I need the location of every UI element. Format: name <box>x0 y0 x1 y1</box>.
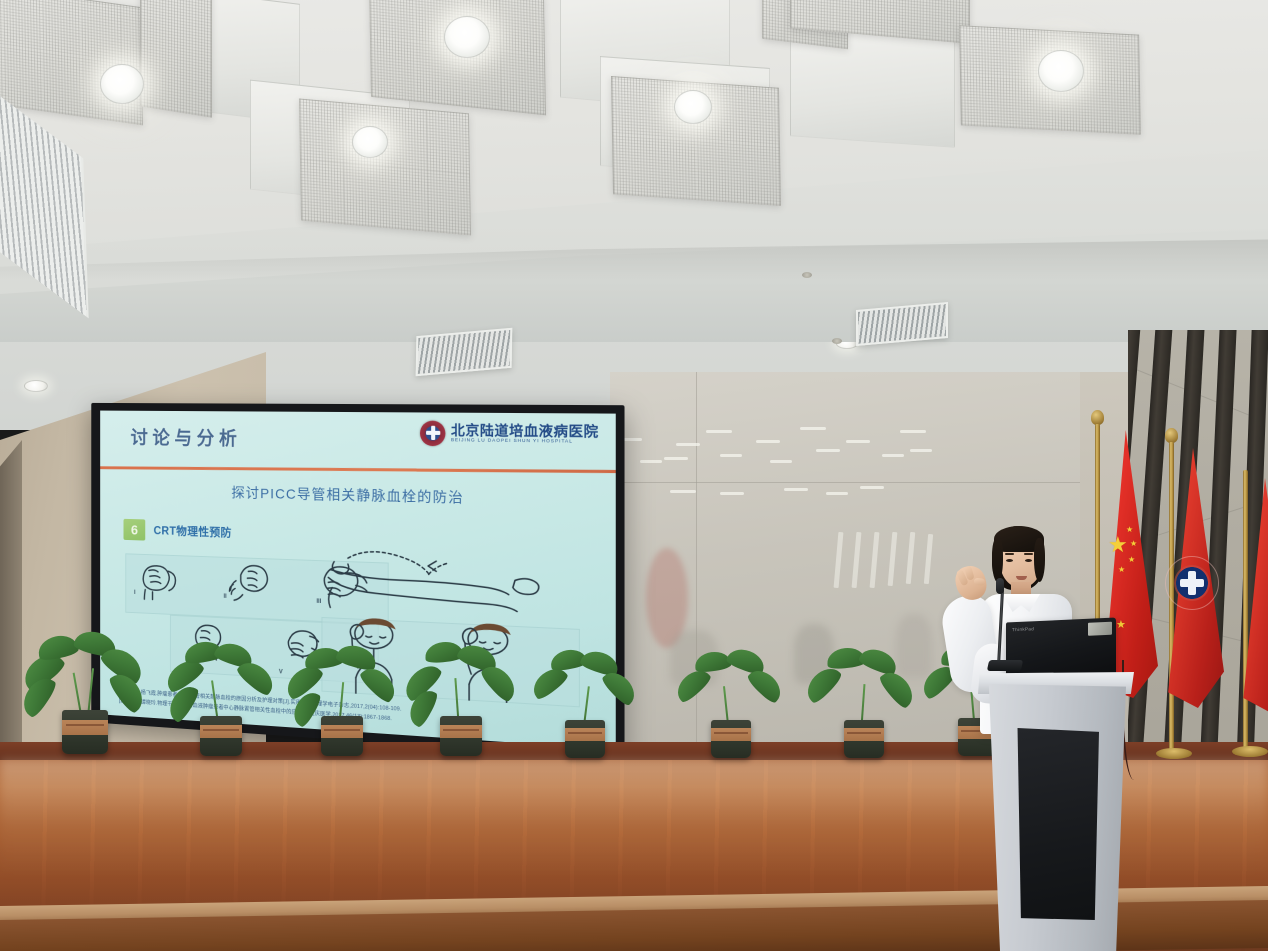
ceiling-air-vent-1 <box>416 328 513 376</box>
light-reflection-5 <box>706 430 732 433</box>
flagpole-base <box>1232 746 1268 757</box>
hospital-name-en: BEIJING LU DAOPEI SHUN YI HOSPITAL <box>451 438 599 445</box>
plant-leaf <box>694 650 732 674</box>
light-reflection-17 <box>784 488 808 491</box>
presenter-laptop[interactable]: ThinkPad <box>1006 618 1116 679</box>
sprinkler-head-2 <box>832 338 842 344</box>
downlight-3 <box>1038 50 1084 92</box>
laptop-sticker <box>1088 622 1112 636</box>
plant-pot <box>711 720 751 758</box>
pot-label-band <box>200 725 242 739</box>
flag-star-extra: ★ <box>1116 620 1126 631</box>
microphone-head <box>996 578 1004 594</box>
presenter-brow-left <box>1005 553 1014 555</box>
figure-label-1: I <box>134 590 136 596</box>
figure-label-3: III <box>316 599 321 605</box>
plant-pot <box>321 716 363 756</box>
plant-pot <box>440 716 482 756</box>
slat-reflection-1 <box>834 532 844 588</box>
hand-exercise-icon-1 <box>134 557 187 603</box>
downlight-2 <box>444 16 490 58</box>
figure-label-5: V <box>279 669 283 675</box>
plant-pot <box>844 720 884 758</box>
light-reflection-7 <box>756 440 780 443</box>
downlight-4 <box>352 126 388 158</box>
plant-pot <box>200 716 242 756</box>
light-reflection-6 <box>720 454 742 457</box>
slide-subtitle: 探讨PICC导管相关静脉血栓的防治 <box>100 480 616 512</box>
conference-hall-scene: 讨论与分析 北京陆道培血液病医院 BEIJING LU DAOPEI SHUN … <box>0 0 1268 951</box>
slat-reflection-4 <box>888 532 898 586</box>
ceiling-panel-7 <box>299 98 471 235</box>
flagpole-base <box>1156 748 1192 759</box>
ceiling <box>0 0 1268 420</box>
flagpole <box>1243 470 1248 754</box>
hospital-cross-icon <box>1174 565 1210 601</box>
plant-leaf <box>36 632 80 662</box>
light-reflection-4 <box>676 443 700 446</box>
potted-plant-5 <box>530 648 640 758</box>
step-number-badge: 6 <box>124 519 146 541</box>
hand-exercise-icon-2 <box>224 558 279 605</box>
cross-horizontal <box>1180 579 1204 588</box>
presenter-thumb <box>974 578 986 586</box>
laptop-brand-mark: ThinkPad <box>1012 626 1034 632</box>
light-reflection-16 <box>720 492 744 495</box>
pot-label-band <box>321 725 363 739</box>
pot-label-band <box>844 728 884 741</box>
plant-pot <box>62 710 108 754</box>
flagpole-finial <box>1091 410 1104 425</box>
light-reflection-12 <box>882 454 904 457</box>
flag-star-small: ★ <box>1130 540 1137 548</box>
potted-plant-3 <box>286 644 398 756</box>
light-reflection-13 <box>900 430 926 433</box>
ceiling-panel-2 <box>140 0 212 118</box>
microphone-base <box>987 660 1023 671</box>
light-reflection-8 <box>770 460 792 463</box>
potted-plant-2 <box>164 640 278 756</box>
sprinkler-head-1 <box>802 272 812 278</box>
downlight-7 <box>24 380 48 392</box>
slat-reflection-5 <box>906 532 916 584</box>
slat-reflection-2 <box>852 532 862 588</box>
hospital-logo: 北京陆道培血液病医院 BEIJING LU DAOPEI SHUN YI HOS… <box>420 421 598 449</box>
pot-label-band <box>711 728 751 741</box>
light-reflection-9 <box>800 427 826 430</box>
light-reflection-14 <box>910 449 932 452</box>
presenter-hair-side-right <box>1034 538 1045 582</box>
presenter-eye-right <box>1025 559 1032 562</box>
flag-star-small: ★ <box>1126 526 1133 534</box>
flagpole-finial <box>1165 428 1178 443</box>
pot-label-band <box>62 720 108 735</box>
step-label: CRT物理性预防 <box>154 523 232 541</box>
ceiling-panel-1 <box>0 0 143 125</box>
flag-star-small: ★ <box>1128 556 1135 564</box>
pot-label-band <box>440 725 482 739</box>
hospital-cross-icon <box>420 421 445 447</box>
flag-star-small: ★ <box>1118 566 1125 574</box>
light-reflection-11 <box>846 440 870 443</box>
light-reflection-15 <box>670 490 696 493</box>
potted-plant-1 <box>24 632 146 754</box>
potted-plant-7 <box>808 644 920 758</box>
light-reflection-18 <box>826 492 848 495</box>
glass-seam-horizontal <box>610 482 1080 483</box>
pot-label-band <box>565 728 605 741</box>
slide-title: 讨论与分析 <box>131 423 242 450</box>
downlight-1 <box>100 64 144 104</box>
light-reflection-3 <box>640 460 662 463</box>
slide-step-header: 6 CRT物理性预防 <box>124 519 232 544</box>
plant-pot <box>565 720 605 758</box>
slat-reflection-3 <box>870 532 880 588</box>
slide-title-rule <box>100 466 616 473</box>
light-reflection-19 <box>860 486 884 489</box>
flag-star-large: ★ <box>1108 534 1128 556</box>
figure-label-2: II <box>224 594 227 600</box>
potted-plant-6 <box>676 648 786 758</box>
downlight-5 <box>674 90 712 124</box>
potted-plant-4 <box>404 640 518 756</box>
light-reflection-2 <box>664 457 688 460</box>
light-reflection-10 <box>816 449 840 452</box>
presenter-hair-side-left <box>992 538 1003 582</box>
presenter-brow-right <box>1024 553 1033 555</box>
hospital-logo-text: 北京陆道培血液病医院 BEIJING LU DAOPEI SHUN YI HOS… <box>451 424 599 446</box>
presenter-eye-left <box>1006 559 1013 562</box>
podium-front-panel <box>1015 728 1099 920</box>
